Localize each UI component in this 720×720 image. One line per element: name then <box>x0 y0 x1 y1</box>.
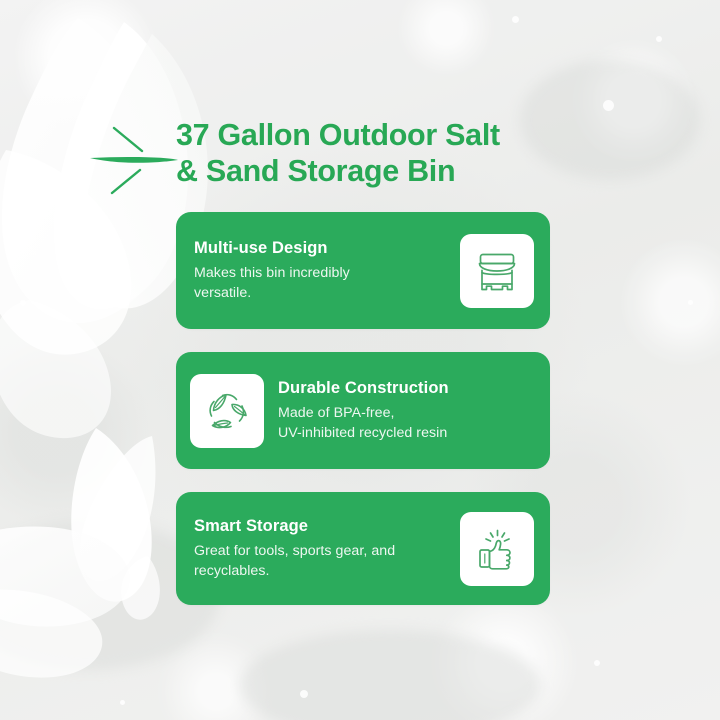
feature-card-text: Durable Construction Made of BPA-free, U… <box>264 378 550 443</box>
feature-card-description: Great for tools, sports gear, and recycl… <box>194 541 454 581</box>
background-speck <box>20 300 26 306</box>
background-speck <box>120 700 125 705</box>
feature-card-icon-box <box>190 374 264 448</box>
feature-card-icon-box <box>460 234 534 308</box>
feature-card-description: Makes this bin incredibly versatile. <box>194 263 454 303</box>
feature-card-durable-construction[interactable]: Durable Construction Made of BPA-free, U… <box>176 352 550 469</box>
feature-card-multi-use-design[interactable]: Multi-use Design Makes this bin incredib… <box>176 212 550 329</box>
storage-bin-icon <box>472 246 522 296</box>
content-column: 37 Gallon Outdoor Salt & Sand Storage Bi… <box>176 0 550 720</box>
feature-card-icon-box <box>460 512 534 586</box>
page-title: 37 Gallon Outdoor Salt & Sand Storage Bi… <box>176 118 576 189</box>
feature-card-title: Durable Construction <box>278 378 536 399</box>
feature-card-text: Smart Storage Great for tools, sports ge… <box>176 516 460 581</box>
background-speck <box>594 660 600 666</box>
background-speck <box>688 300 693 305</box>
feature-card-title: Multi-use Design <box>194 238 454 259</box>
background-speck <box>603 100 614 111</box>
feature-card-smart-storage[interactable]: Smart Storage Great for tools, sports ge… <box>176 492 550 605</box>
recycle-leaves-icon <box>202 386 252 436</box>
thumbs-up-icon <box>472 524 522 574</box>
feature-card-title: Smart Storage <box>194 516 454 537</box>
feature-card-text: Multi-use Design Makes this bin incredib… <box>176 238 460 303</box>
background-speck <box>656 36 662 42</box>
feature-card-description: Made of BPA-free, UV-inhibited recycled … <box>278 403 536 443</box>
